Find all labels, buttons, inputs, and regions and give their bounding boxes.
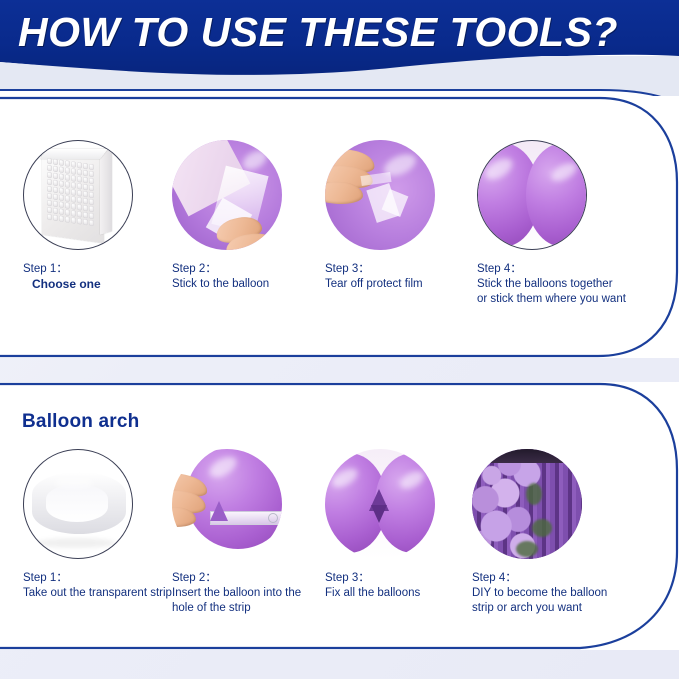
step-illustration: [477, 140, 587, 250]
step-heading: Step 4：: [477, 261, 679, 277]
step-heading: Step 4：: [472, 570, 679, 586]
step-illustration: [325, 449, 435, 559]
panel-heading: Balloon arch: [22, 411, 139, 433]
infographic-page: HOW TO USE THESE TOOLS?: [0, 0, 679, 679]
page-title: HOW TO USE THESE TOOLS?: [18, 4, 678, 60]
step-text: DIY to become the balloon: [472, 586, 679, 601]
step-text: Stick the balloons together: [477, 277, 679, 292]
balloon-right: [526, 143, 587, 247]
step-text: hole of the strip: [172, 601, 382, 616]
panel-tools: Step 1： Choose one Step 2： Stick to the …: [0, 96, 679, 358]
step-illustration: [325, 140, 435, 250]
step-illustration: [172, 449, 282, 559]
panel-balloon-arch: Balloon arch Step 1： Take out the transp…: [0, 382, 679, 650]
photo-top-edge: [472, 449, 582, 463]
glue-dot-sheet-icon: [24, 141, 133, 250]
step-illustration: [23, 449, 133, 559]
step-illustration: [23, 140, 133, 250]
hand-icon: [172, 475, 222, 531]
step-text: strip or arch you want: [472, 601, 679, 616]
step-illustration: [472, 449, 582, 559]
step-illustration: [172, 140, 282, 250]
step-text: or stick them where you want: [477, 292, 679, 307]
hand-icon: [216, 212, 282, 250]
